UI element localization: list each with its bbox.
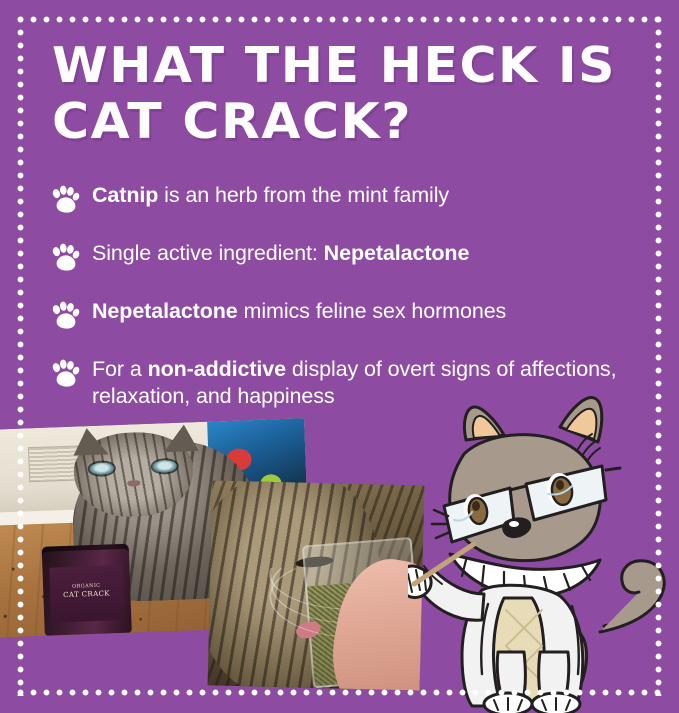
paw-print-icon: [48, 300, 82, 334]
bullet-2-rest: Single active ingredient:: [92, 241, 324, 265]
photo-2-scene: [208, 480, 425, 690]
paw-print-icon: [48, 242, 82, 276]
list-item: Catnip is an herb from the mint family: [48, 182, 648, 218]
list-item-text: Single active ingredient: Nepetalactone: [92, 240, 469, 267]
list-item: Nepetalactone mimics feline sex hormones: [48, 298, 648, 334]
title-line-1: What the heck is: [52, 38, 629, 94]
bullet-4-pre: For a: [92, 357, 148, 381]
photo-cat-sniffing-catnip: [208, 480, 425, 690]
paw-print-icon: [48, 358, 82, 392]
page-title: What the heck is Cat Crack?: [52, 38, 612, 150]
border-top: [17, 16, 662, 23]
bullet-2-bold: Nepetalactone: [324, 241, 470, 265]
paw-print-icon: [48, 184, 82, 218]
title-line-2: Cat Crack?: [52, 94, 629, 150]
photo-1-catnip-jar: ORGANIC CAT CRACK: [41, 543, 131, 636]
cartoon-scientist-cat: [408, 394, 679, 713]
jar-label: ORGANIC CAT CRACK: [49, 565, 124, 623]
jar-label-top: ORGANIC: [50, 581, 123, 592]
list-item-text: Catnip is an herb from the mint family: [92, 182, 449, 209]
photo-1-vent: [28, 445, 80, 482]
bullet-1-rest: is an herb from the mint family: [158, 183, 449, 207]
infographic-poster: What the heck is Cat Crack? Catnip is an…: [0, 0, 679, 713]
bullet-4-bold: non-addictive: [148, 357, 286, 381]
list-item: Single active ingredient: Nepetalactone: [48, 240, 648, 276]
bullet-3-bold: Nepetalactone: [92, 299, 238, 323]
list-item-text: Nepetalactone mimics feline sex hormones: [92, 298, 506, 325]
bullet-1-bold: Catnip: [92, 183, 158, 207]
bullet-3-rest: mimics feline sex hormones: [238, 299, 507, 323]
